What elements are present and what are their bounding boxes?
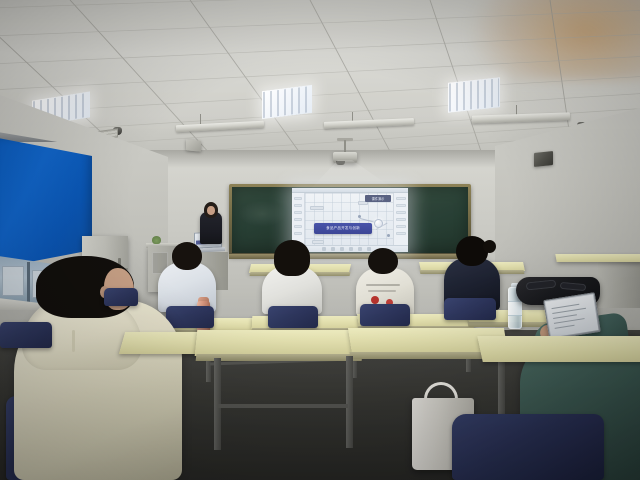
tshirt-graphic-line [366, 284, 400, 286]
panel-item[interactable] [294, 218, 302, 221]
panel-item[interactable] [396, 218, 406, 221]
panel-item[interactable] [294, 211, 302, 214]
chalk-tray [229, 254, 471, 259]
tablet-text-line [555, 325, 575, 329]
app-left-panel[interactable] [292, 193, 305, 245]
backpack-strap [560, 282, 587, 291]
wall-speaker-right [534, 151, 553, 167]
projection-screen[interactable]: 食品产品开发与创新 课件演示 [292, 188, 408, 252]
hair-bun [483, 240, 496, 253]
panel-item[interactable] [396, 204, 406, 207]
chair-foreground-right[interactable] [452, 414, 604, 480]
tablet-screen[interactable] [545, 294, 598, 337]
chair-left-background-2[interactable] [104, 288, 138, 306]
dock-button[interactable] [340, 247, 344, 251]
desk-foreground-right [477, 336, 640, 362]
dock-button[interactable] [358, 247, 362, 251]
desk-front-cross-rail [218, 404, 348, 408]
chair-back-right[interactable] [444, 298, 496, 320]
tshirt-graphic-line [368, 290, 396, 292]
projector-lens [336, 161, 345, 165]
student-white-top-hair [274, 240, 310, 276]
window-roller-blind[interactable] [0, 138, 92, 268]
student-graphic-tee-hair [368, 248, 398, 274]
dock-button[interactable] [349, 247, 353, 251]
presenter-face [207, 206, 215, 215]
tshirt-graphic-dot [371, 296, 379, 304]
slide-badge-text: 课件演示 [372, 196, 385, 201]
canvas-node-chip[interactable] [312, 240, 324, 244]
hoodie-drawcord [72, 330, 75, 352]
slide-title-banner: 食品产品开发与创新 [314, 223, 372, 234]
panel-item[interactable] [294, 225, 302, 228]
small-potted-plant [152, 236, 161, 244]
outside-building-1 [2, 266, 24, 296]
water-bottle-label [508, 301, 522, 316]
canvas-highlight-node[interactable] [374, 219, 383, 228]
canvas-small-node[interactable] [358, 215, 361, 218]
panel-item[interactable] [396, 211, 406, 214]
desk-front-center [195, 330, 364, 356]
slide-title-text: 食品产品开发与创新 [326, 226, 360, 231]
classroom-photo: 食品产品开发与创新 课件演示 [0, 0, 640, 480]
slide-corner-badge: 课件演示 [365, 195, 391, 202]
canvas-node-chip[interactable] [310, 206, 324, 210]
window-mullion-1 [27, 262, 30, 304]
panel-item[interactable] [396, 197, 406, 200]
app-top-toolbar[interactable] [292, 188, 408, 193]
dock-button[interactable] [367, 247, 371, 251]
student-dark-jacket-hair [456, 236, 488, 266]
tablet-text-line [552, 308, 586, 314]
ceiling-panel-light-right [448, 77, 500, 112]
tablet-text-line [554, 318, 585, 324]
panel-item[interactable] [294, 232, 302, 235]
dock-button[interactable] [322, 247, 326, 251]
chair-mid-center[interactable] [268, 306, 318, 328]
chalk-smudge [238, 201, 286, 227]
student-blue-shirt-head [172, 242, 202, 270]
fixture-rod-left [200, 114, 201, 124]
desk-back-far-right [555, 254, 640, 262]
backpack-strap [526, 279, 557, 290]
wall-speaker-left [186, 139, 201, 152]
panel-item[interactable] [294, 204, 302, 207]
tablet-text-line [553, 314, 577, 319]
chair-mid-right[interactable] [360, 304, 410, 326]
right-side-cabinet [598, 258, 640, 308]
chair-mid-left[interactable] [166, 306, 214, 328]
panel-item[interactable] [294, 197, 302, 200]
panel-item[interactable] [396, 232, 406, 235]
app-right-panel[interactable] [393, 193, 408, 245]
desk-leg-front [346, 356, 353, 448]
chair-left-background[interactable] [0, 322, 52, 348]
panel-item[interactable] [396, 225, 406, 228]
dock-button[interactable] [331, 247, 335, 251]
canvas-small-node[interactable] [387, 234, 390, 237]
tablet-device[interactable] [543, 292, 601, 340]
